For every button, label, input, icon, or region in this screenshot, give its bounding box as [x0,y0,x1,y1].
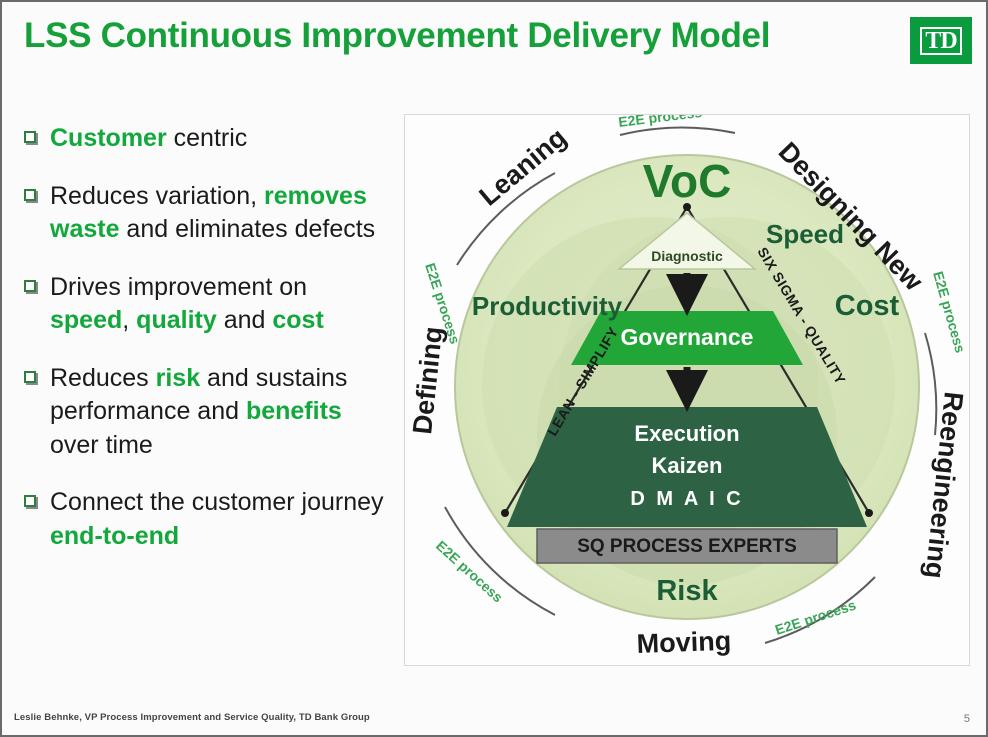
bullet-highlight: cost [272,306,323,334]
pyramid-governance-label: Governance [621,324,754,350]
pyramid-base-label: SQ PROCESS EXPERTS [577,536,797,557]
page-title: LSS Continuous Improvement Delivery Mode… [24,16,770,56]
bullet-text: Drives improvement on speed, quality and… [50,271,392,338]
bullet-highlight: Customer [50,124,167,152]
bullet-plain: and eliminates defects [119,215,375,243]
bullet-square-icon [24,280,36,292]
outer-label-reengineering: Reengineering [919,390,968,580]
bullet-highlight: quality [136,306,217,334]
slide: LSS Continuous Improvement Delivery Mode… [0,0,988,737]
bullet-item: Reduces variation, removes waste and eli… [20,180,392,247]
circle-label-speed: Speed [766,219,844,249]
e2e-arc-right [925,333,936,435]
bullet-text: Reduces variation, removes waste and eli… [50,180,392,247]
bullet-item: Customer centric [20,122,392,156]
bullet-square-icon [24,371,36,383]
bullet-square-icon [24,495,36,507]
bullet-plain: centric [167,124,248,152]
pyramid-diagnostic-label: Diagnostic [651,248,723,264]
bullet-plain: Reduces variation, [50,182,264,210]
circle-label-voc: VoC [643,155,732,207]
td-logo-text: TD [920,27,961,55]
delivery-model-diagram: SQ PROCESS EXPERTS Execution Kaizen D M … [404,114,970,666]
e2e-label-right: E2E process [930,269,969,354]
pyramid-execution-line-2: Kaizen [652,453,723,478]
bullet-highlight: benefits [246,397,342,425]
bullet-square-icon [24,131,36,143]
diagram-canvas: SQ PROCESS EXPERTS Execution Kaizen D M … [405,115,969,665]
bullet-plain: over time [50,431,153,459]
page-number: 5 [964,713,970,725]
circle-label-cost: Cost [835,290,900,322]
bullet-text: Customer centric [50,122,247,156]
bullet-square-icon [24,189,36,201]
outer-label-moving: Moving [636,626,731,659]
circle-label-risk: Risk [656,575,718,607]
bullet-highlight: risk [156,364,200,392]
bullet-plain: Connect the customer journey [50,488,384,516]
bullet-highlight: speed [50,306,122,334]
bullet-plain: , [122,306,136,334]
pyramid-execution-line-3: D M A I C [630,488,743,510]
bullet-highlight: end-to-end [50,522,179,550]
bullet-list: Customer centricReduces variation, remov… [20,122,392,577]
circle-label-productivity: Productivity [472,291,623,321]
bullet-plain: and [217,306,273,334]
e2e-label-bottom-right: E2E process [773,597,858,638]
bullet-item: Drives improvement on speed, quality and… [20,271,392,338]
credit-line: Leslie Behnke, VP Process Improvement an… [14,712,370,723]
bullet-text: Reduces risk and sustains performance an… [50,362,392,463]
bullet-item: Connect the customer journey end-to-end [20,486,392,553]
e2e-arc-top [620,128,735,135]
outer-label-defining: Defining [407,325,448,436]
bullet-item: Reduces risk and sustains performance an… [20,362,392,463]
td-logo: TD [910,17,972,64]
bullet-plain: Drives improvement on [50,273,307,301]
pyramid-execution-line-1: Execution [634,421,739,446]
bullet-text: Connect the customer journey end-to-end [50,486,392,553]
bullet-plain: Reduces [50,364,156,392]
